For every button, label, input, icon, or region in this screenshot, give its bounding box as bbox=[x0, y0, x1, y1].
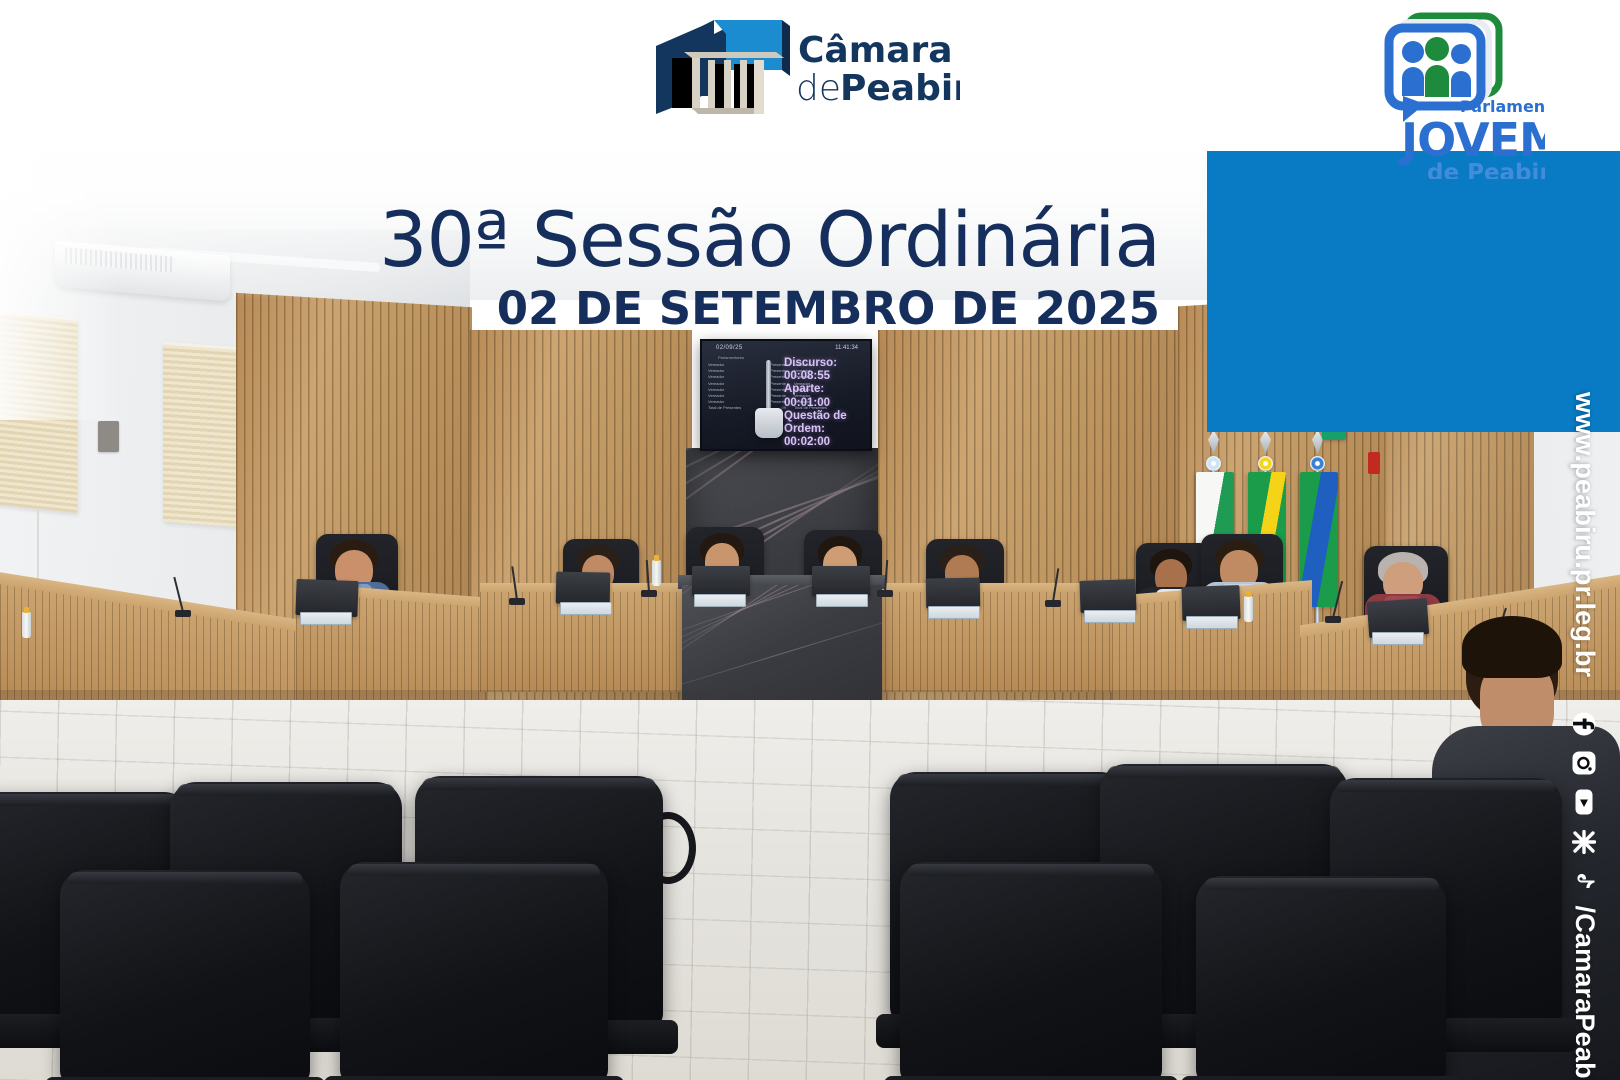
chair-rim bbox=[908, 864, 1154, 876]
page-title: 30ª Sessão Ordinária bbox=[0, 198, 1160, 282]
chair-rim bbox=[1337, 780, 1555, 792]
chair-seat bbox=[324, 1076, 624, 1080]
member-nameplate bbox=[694, 594, 746, 607]
led-clock: 11:41:34 bbox=[835, 345, 858, 351]
tiktok-icon[interactable] bbox=[1565, 869, 1596, 891]
camara-de-peabiru-logo: Câmara de Peabiru bbox=[650, 18, 960, 118]
led-date: 02/09/25 bbox=[716, 345, 743, 351]
member-nameplate bbox=[1186, 616, 1238, 629]
microphone-base bbox=[1045, 600, 1061, 607]
youtube-icon[interactable] bbox=[1565, 789, 1596, 815]
audience-chair bbox=[1196, 876, 1446, 1080]
audience-chair bbox=[900, 862, 1162, 1080]
x-twitter-icon[interactable] bbox=[1565, 830, 1596, 854]
blue-overlay-panel bbox=[1207, 151, 1620, 432]
building-columns-icon bbox=[656, 20, 790, 114]
flag-rosette bbox=[1258, 456, 1273, 471]
member-nameplate bbox=[300, 612, 352, 625]
microphone-base bbox=[175, 610, 191, 617]
flag-rosette bbox=[1310, 456, 1325, 471]
chair-back bbox=[1196, 876, 1446, 1080]
water-bottle bbox=[652, 560, 661, 586]
logo-line1: Câmara bbox=[798, 30, 953, 71]
wall-plate bbox=[98, 421, 119, 452]
led-heading: Parlamentares bbox=[718, 355, 744, 360]
led-timer-value: 00:02:00 bbox=[784, 436, 866, 449]
chair-rim bbox=[422, 778, 655, 790]
chair-back bbox=[60, 870, 310, 1080]
water-bottle bbox=[1244, 596, 1253, 622]
logo-line2-bold: Peabiru bbox=[840, 68, 960, 109]
parlamento-jovem-logo: Parlamento JOVEM de Peabiru bbox=[1345, 4, 1545, 179]
social-handle: /CamaraPeabiru bbox=[1570, 906, 1600, 1080]
laptop bbox=[1079, 579, 1136, 613]
ceiling-microphone-stem bbox=[766, 360, 771, 410]
chair-rim bbox=[0, 794, 183, 806]
instagram-icon[interactable] bbox=[1565, 751, 1596, 775]
chair-rim bbox=[68, 872, 303, 884]
website-url[interactable]: www.peabiru.pr.leg.br bbox=[1569, 392, 1600, 677]
laptop bbox=[556, 572, 611, 605]
fire-alarm-icon bbox=[1368, 452, 1380, 474]
jovem-wordmark: JOVEM bbox=[1398, 113, 1545, 167]
microphone-base bbox=[1325, 616, 1341, 623]
chair-rim bbox=[348, 864, 600, 876]
laptop bbox=[692, 566, 750, 596]
led-timer-row: Aparte: bbox=[784, 383, 866, 396]
microphone-base bbox=[641, 590, 657, 597]
chair-seat bbox=[1181, 1076, 1461, 1080]
microphone-base bbox=[509, 598, 525, 605]
member-nameplate bbox=[816, 594, 868, 607]
laptop bbox=[812, 566, 870, 596]
chair-rim bbox=[177, 784, 395, 796]
led-roster: VereadorPresenteVereadorPresenteVereador… bbox=[708, 362, 786, 412]
chair-back bbox=[900, 862, 1162, 1080]
member-nameplate bbox=[1372, 632, 1424, 645]
chair-seat bbox=[884, 1076, 1177, 1080]
session-date: 02 DE SETEMBRO DE 2025 bbox=[0, 284, 1160, 334]
led-timer-row: Questão de bbox=[784, 410, 866, 423]
jovem-subtitle: de Peabiru bbox=[1427, 160, 1545, 179]
member-nameplate bbox=[928, 606, 980, 619]
audience-chair bbox=[340, 862, 608, 1080]
flag-rosette bbox=[1206, 456, 1221, 471]
microphone-base bbox=[877, 590, 893, 597]
facebook-icon[interactable] bbox=[1565, 712, 1596, 736]
chair-rim bbox=[1107, 766, 1340, 778]
ceiling-microphone-head bbox=[755, 408, 783, 438]
water-bottle bbox=[22, 612, 31, 638]
led-timers: Discurso:00:08:55Aparte:00:01:00Questão … bbox=[784, 357, 866, 449]
audience-chair bbox=[60, 870, 310, 1080]
led-timer-value: 00:01:00 bbox=[784, 397, 866, 410]
chair-rim bbox=[1204, 878, 1439, 890]
led-timer-value: 00:08:55 bbox=[784, 370, 866, 383]
laptop bbox=[926, 578, 981, 609]
chair-back bbox=[340, 862, 608, 1080]
member-nameplate bbox=[1084, 610, 1136, 623]
announcement-graphic: 02/09/25 11:41:34 Parlamentares Vereador… bbox=[0, 0, 1620, 1080]
led-timer-row: Ordem: bbox=[784, 423, 866, 436]
led-scoreboard: 02/09/25 11:41:34 Parlamentares Vereador… bbox=[700, 339, 872, 451]
chair-rim bbox=[897, 774, 1119, 786]
member-nameplate bbox=[560, 602, 612, 615]
logo-line2-light: de bbox=[796, 68, 841, 109]
led-timer-row: Discurso: bbox=[784, 357, 866, 370]
